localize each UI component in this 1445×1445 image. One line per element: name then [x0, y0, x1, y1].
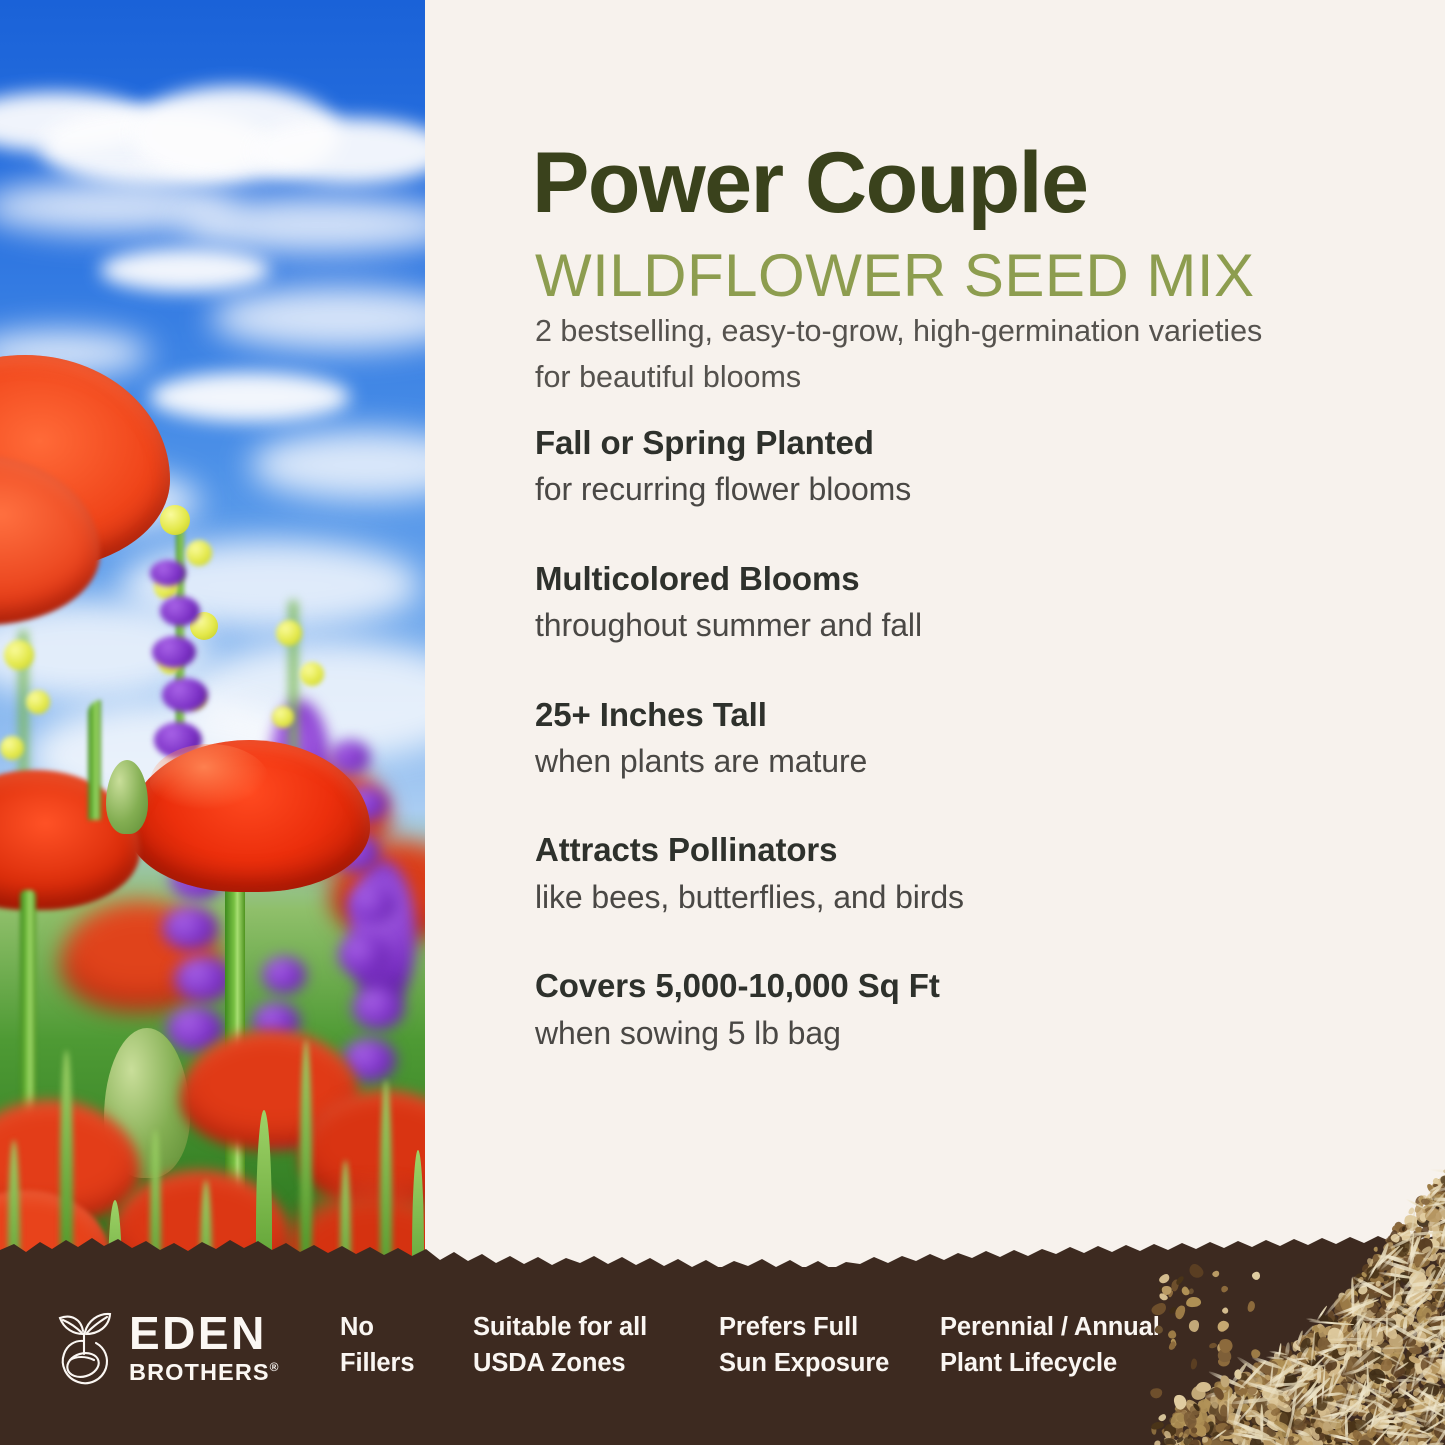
- feature-item: Fall or Spring Planted for recurring flo…: [535, 422, 1365, 511]
- feature-title: Attracts Pollinators: [535, 829, 1365, 871]
- logo-eden-text: EDEN: [129, 1310, 280, 1356]
- feature-subtitle: when sowing 5 lb bag: [535, 1013, 1365, 1055]
- footer-badge-usda-zones: Suitable for all USDA Zones: [473, 1309, 647, 1381]
- footer-badge-no-fillers: No Fillers: [340, 1309, 414, 1381]
- logo-brothers-text: BROTHERS®: [129, 1361, 280, 1385]
- feature-title: 25+ Inches Tall: [535, 694, 1365, 736]
- wildflower-photo: [0, 0, 425, 1445]
- logo-wordmark: EDEN BROTHERS®: [129, 1310, 280, 1385]
- feature-subtitle: when plants are mature: [535, 741, 1365, 783]
- logo-brothers-label: BROTHERS: [129, 1359, 270, 1385]
- feature-subtitle: throughout summer and fall: [535, 605, 1365, 647]
- footer-badge-sun-exposure: Prefers Full Sun Exposure: [719, 1309, 889, 1381]
- feature-title: Multicolored Blooms: [535, 558, 1365, 600]
- eden-brothers-logo: EDEN BROTHERS®: [52, 1305, 280, 1389]
- footer-badge-plant-lifecycle: Perennial / Annual Plant Lifecycle: [940, 1309, 1160, 1381]
- feature-title: Fall or Spring Planted: [535, 422, 1365, 464]
- feature-item: 25+ Inches Tall when plants are mature: [535, 694, 1365, 783]
- tagline: 2 bestselling, easy-to-grow, high-germin…: [535, 308, 1295, 401]
- registered-trademark-icon: ®: [270, 1360, 280, 1374]
- feature-item: Covers 5,000-10,000 Sq Ft when sowing 5 …: [535, 965, 1365, 1054]
- infographic-canvas: Power Couple WILDFLOWER SEED MIX 2 bests…: [0, 0, 1445, 1445]
- feature-title: Covers 5,000-10,000 Sq Ft: [535, 965, 1365, 1007]
- sprouting-seed-icon: [52, 1305, 118, 1389]
- feature-subtitle: like bees, butterflies, and birds: [535, 877, 1365, 919]
- page-subtitle: WILDFLOWER SEED MIX: [535, 246, 1255, 306]
- page-title: Power Couple: [532, 140, 1087, 226]
- feature-item: Attracts Pollinators like bees, butterfl…: [535, 829, 1365, 918]
- feature-item: Multicolored Blooms throughout summer an…: [535, 558, 1365, 647]
- feature-list: Fall or Spring Planted for recurring flo…: [535, 422, 1365, 1101]
- feature-subtitle: for recurring flower blooms: [535, 469, 1365, 511]
- seed-pile: [1145, 1165, 1445, 1445]
